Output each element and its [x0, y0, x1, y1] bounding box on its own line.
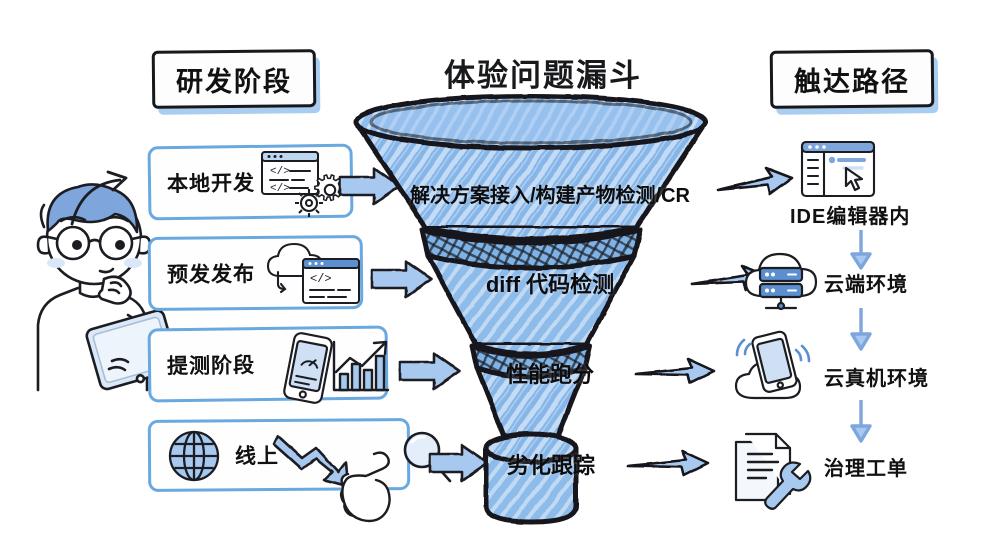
header-chip-left: 研发阶段	[152, 49, 317, 109]
smartphone-gauge-icon	[282, 332, 334, 404]
funnel-label-2: diff 代码检测	[430, 267, 670, 299]
output-arrow-1	[716, 164, 794, 200]
stage-label-testing: 提测阶段	[167, 349, 255, 380]
channel-connector-arrow-1	[848, 228, 874, 272]
funnel-label-1: 解决方案接入/构建产物检测/CR	[390, 179, 710, 208]
character-pointer-arrow	[68, 166, 158, 226]
documents-wrench-icon	[728, 424, 814, 510]
channel-label-ide: IDE编辑器内	[790, 200, 910, 229]
svg-text:</>: </>	[270, 166, 290, 178]
funnel-label-3: 性能跑分	[440, 357, 660, 389]
channel-label-real-device: 云真机环境	[824, 362, 929, 391]
svg-text:</>: </>	[310, 272, 332, 286]
cloud-phone-icon	[730, 330, 816, 404]
page-title: 体验问题漏斗	[444, 50, 642, 95]
funnel-label-4: 劣化跟踪	[446, 448, 656, 480]
header-chip-right-label: 触达路径	[794, 60, 910, 99]
channel-connector-arrow-3	[848, 398, 874, 444]
svg-text:</>: </>	[270, 183, 290, 195]
ide-editor-window-icon	[798, 138, 880, 202]
channel-label-governance: 治理工单	[824, 452, 908, 481]
channel-label-cloud: 云端环境	[824, 268, 908, 297]
header-chip-right: 触达路径	[770, 49, 935, 109]
cloud-server-icon	[742, 246, 820, 312]
globe-icon	[166, 428, 222, 484]
stage-label-local-dev: 本地开发	[167, 167, 255, 198]
stage-label-prerelease: 预发发布	[167, 258, 255, 289]
header-chip-left-label: 研发阶段	[176, 60, 292, 99]
channel-connector-arrow-2	[848, 306, 874, 352]
